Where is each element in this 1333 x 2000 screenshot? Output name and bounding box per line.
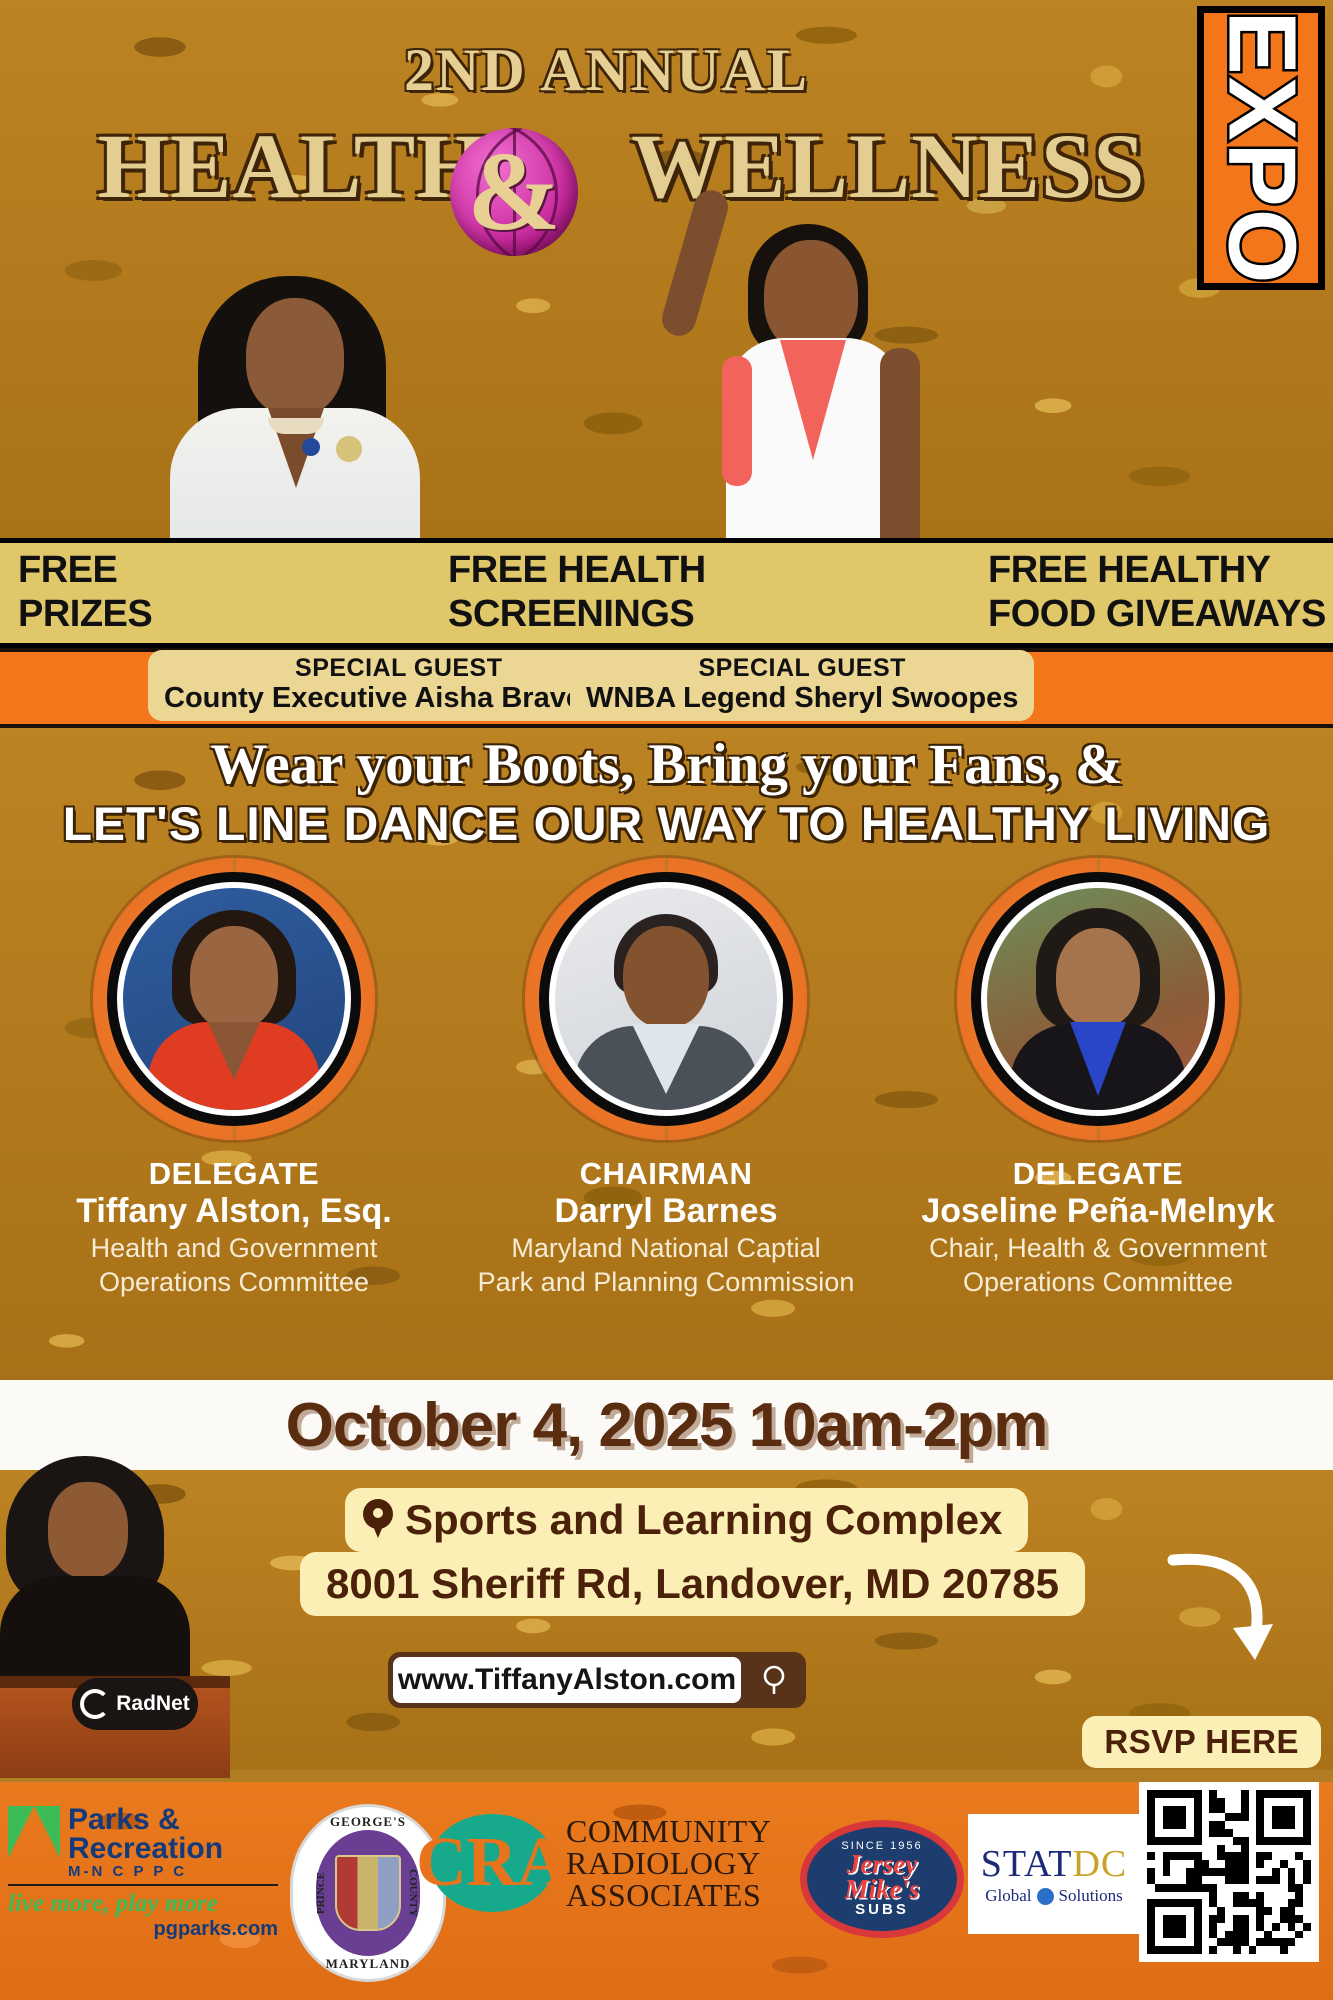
seal-text-bottom: MARYLAND (293, 1956, 443, 1972)
jersey-mikes-name-1: Jersey (847, 1852, 917, 1876)
speaker-2-name: Darryl Barnes (456, 1193, 876, 1230)
radnet-label: RadNet (116, 1692, 190, 1716)
curved-arrow-icon (1165, 1548, 1275, 1668)
community-radiology-associates-logo: CRA COMMUNITY RADIOLOGY ASSOCIATES (430, 1814, 771, 1912)
braveboy-pin (302, 438, 320, 456)
speaker-2-org-line1: Maryland National Captial (456, 1233, 876, 1263)
expo-label: EXPO (1206, 11, 1316, 286)
swoopes-raised-arm (658, 186, 732, 340)
speaker-card-barnes: CHAIRMAN Darryl Barnes Maryland National… (456, 846, 876, 1297)
statdc-sub-1: Global (985, 1886, 1031, 1906)
speaker-3-role: DELEGATE (888, 1156, 1308, 1192)
parks-line-1: Parks & (68, 1806, 223, 1835)
parks-wordmark: Parks & Recreation M-N C P P C (68, 1806, 223, 1879)
speaker-1-photo-ring (93, 858, 375, 1140)
speaker-3-photo-ring (957, 858, 1239, 1140)
venue-name-pod: Sports and Learning Complex (345, 1488, 1028, 1552)
rsvp-button[interactable]: RSVP HERE (1082, 1716, 1321, 1768)
cra-wordmark: COMMUNITY RADIOLOGY ASSOCIATES (566, 1815, 771, 1911)
braveboy-face (246, 298, 344, 416)
free-offer-1-line2: PRIZES (18, 593, 152, 637)
speaker-2-photo (555, 888, 777, 1110)
free-offers-band: FREE PRIZES FREE HEALTH SCREENINGS FREE … (0, 538, 1333, 648)
statdc-logo: STATDC Global Solutions (968, 1814, 1140, 1934)
free-offer-1-line1: FREE (18, 549, 117, 593)
seal-inner (316, 1830, 420, 1956)
speaker-2-org-line2: Park and Planning Commission (456, 1267, 876, 1297)
expo-vertical-banner: EXPO (1197, 6, 1325, 290)
radnet-mark-icon (80, 1689, 110, 1719)
event-flyer: 2ND ANNUAL HEALTH WELLNESS & EXPO (0, 0, 1333, 2000)
radnet-logo: RadNet (72, 1678, 198, 1730)
free-offer-food: FREE HEALTHY FOOD GIVEAWAYS (988, 543, 1326, 643)
parks-tagline: live more, play more (8, 1890, 278, 1918)
kicker-text: 2ND ANNUAL (0, 36, 1213, 105)
free-offer-3-line2: FOOD GIVEAWAYS (988, 593, 1326, 637)
seal-coat-of-arms (335, 1855, 401, 1931)
speakers-row: DELEGATE Tiffany Alston, Esq. Health and… (0, 846, 1333, 1346)
mid-section: Wear your Boots, Bring your Fans, & LET'… (0, 728, 1333, 1380)
parks-leaf-icon (8, 1806, 60, 1858)
qr-code-matrix (1147, 1790, 1311, 1954)
statdc-subline: Global Solutions (985, 1886, 1123, 1906)
speaker-1-face (190, 926, 278, 1030)
jersey-mikes-name-2: Mike's (844, 1877, 919, 1901)
braveboy-brooch (336, 436, 362, 462)
cra-line-2: RADIOLOGY (566, 1847, 771, 1879)
parks-recreation-logo: Parks & Recreation M-N C P P C live more… (8, 1806, 278, 1941)
title-left: HEALTH (98, 115, 489, 217)
cra-line-1: COMMUNITY (566, 1815, 771, 1847)
speaker-2-role: CHAIRMAN (456, 1156, 876, 1192)
venue-name: Sports and Learning Complex (405, 1496, 1002, 1544)
guest-photo-swoopes (630, 188, 960, 588)
speaker-1-photo (123, 888, 345, 1110)
special-guest-1-name: County Executive Aisha Braveboy (164, 682, 634, 714)
parks-line-2: Recreation (68, 1835, 223, 1864)
venue-address-pod: 8001 Sheriff Rd, Landover, MD 20785 (300, 1552, 1085, 1616)
swoopes-face (764, 240, 858, 352)
location-pin-icon (363, 1499, 393, 1541)
podium-face (48, 1482, 128, 1578)
page-title: HEALTH WELLNESS (0, 120, 1243, 212)
braveboy-pearls (268, 418, 324, 434)
special-guest-2-role: SPECIAL GUEST (586, 654, 1018, 682)
statdc-wordmark: STATDC (981, 1842, 1128, 1886)
speaker-card-alston: DELEGATE Tiffany Alston, Esq. Health and… (24, 846, 444, 1297)
special-guest-1-role: SPECIAL GUEST (164, 654, 634, 682)
speaker-1-name: Tiffany Alston, Esq. (24, 1193, 444, 1230)
tagline-block: Wear your Boots, Bring your Fans, & LET'… (0, 728, 1333, 846)
parks-line-3: M-N C P P C (68, 1865, 223, 1879)
rsvp-qr-code[interactable] (1139, 1782, 1319, 1962)
cra-line-3: ASSOCIATES (566, 1879, 771, 1911)
speaker-3-org-line1: Chair, Health & Government (888, 1233, 1308, 1263)
statdc-part-1: STAT (981, 1843, 1073, 1885)
speaker-3-org-line2: Operations Committee (888, 1267, 1308, 1297)
tagline-line-2: LET'S LINE DANCE OUR WAY TO HEALTHY LIVI… (0, 796, 1333, 851)
free-offer-2-line1: FREE HEALTH (448, 549, 706, 593)
event-date-time: October 4, 2025 10am-2pm (286, 1390, 1048, 1461)
special-guest-card-swoopes: SPECIAL GUEST WNBA Legend Sheryl Swoopes (570, 650, 1034, 721)
special-guest-2-name: WNBA Legend Sheryl Swoopes (586, 682, 1018, 714)
statdc-sub-2: Solutions (1059, 1886, 1123, 1906)
speaker-card-pena-melnyk: DELEGATE Joseline Peña-Melnyk Chair, Hea… (888, 846, 1308, 1297)
speaker-1-org-line2: Operations Committee (24, 1267, 444, 1297)
ampersand-glyph: & (450, 128, 578, 256)
parks-divider (8, 1884, 278, 1886)
free-offer-prizes: FREE PRIZES (18, 543, 152, 643)
jersey-mikes-logo: SINCE 1956 Jersey Mike's SUBS (800, 1820, 964, 1938)
speaker-3-photo (987, 888, 1209, 1110)
speaker-3-name: Joseline Peña-Melnyk (888, 1193, 1308, 1230)
header-section: 2ND ANNUAL HEALTH WELLNESS & EXPO (0, 0, 1333, 588)
podium-dress (0, 1576, 190, 1688)
parks-logo-top: Parks & Recreation M-N C P P C (8, 1806, 278, 1879)
speaker-2-face (623, 926, 709, 1028)
free-offer-2-line2: SCREENINGS (448, 593, 694, 637)
swoopes-jersey-trim (722, 356, 752, 486)
search-icon[interactable] (746, 1663, 806, 1697)
free-offer-3-line1: FREE HEALTHY (988, 549, 1271, 593)
website-search-bar[interactable]: www.TiffanyAlston.com (388, 1652, 806, 1708)
parks-url: pgparks.com (8, 1918, 278, 1941)
free-offer-screenings: FREE HEALTH SCREENINGS (448, 543, 706, 643)
statdc-part-2: DC (1072, 1843, 1127, 1885)
venue-address: 8001 Sheriff Rd, Landover, MD 20785 (326, 1560, 1059, 1607)
speaker-3-face (1056, 928, 1140, 1028)
jersey-mikes-subs: SUBS (855, 1901, 909, 1918)
speaker-1-org-line1: Health and Government (24, 1233, 444, 1263)
basketball-ampersand-icon: & (450, 128, 578, 256)
tagline-line-1: Wear your Boots, Bring your Fans, & (0, 732, 1333, 797)
sponsor-bar: Parks & Recreation M-N C P P C live more… (0, 1782, 1333, 2000)
globe-icon (1037, 1888, 1054, 1905)
speaker-1-role: DELEGATE (24, 1156, 444, 1192)
speaker-2-photo-ring (525, 858, 807, 1140)
seal-text-left: PRINCE (315, 1872, 327, 1914)
cra-monogram: CRA (430, 1814, 554, 1912)
website-url[interactable]: www.TiffanyAlston.com (393, 1657, 741, 1703)
